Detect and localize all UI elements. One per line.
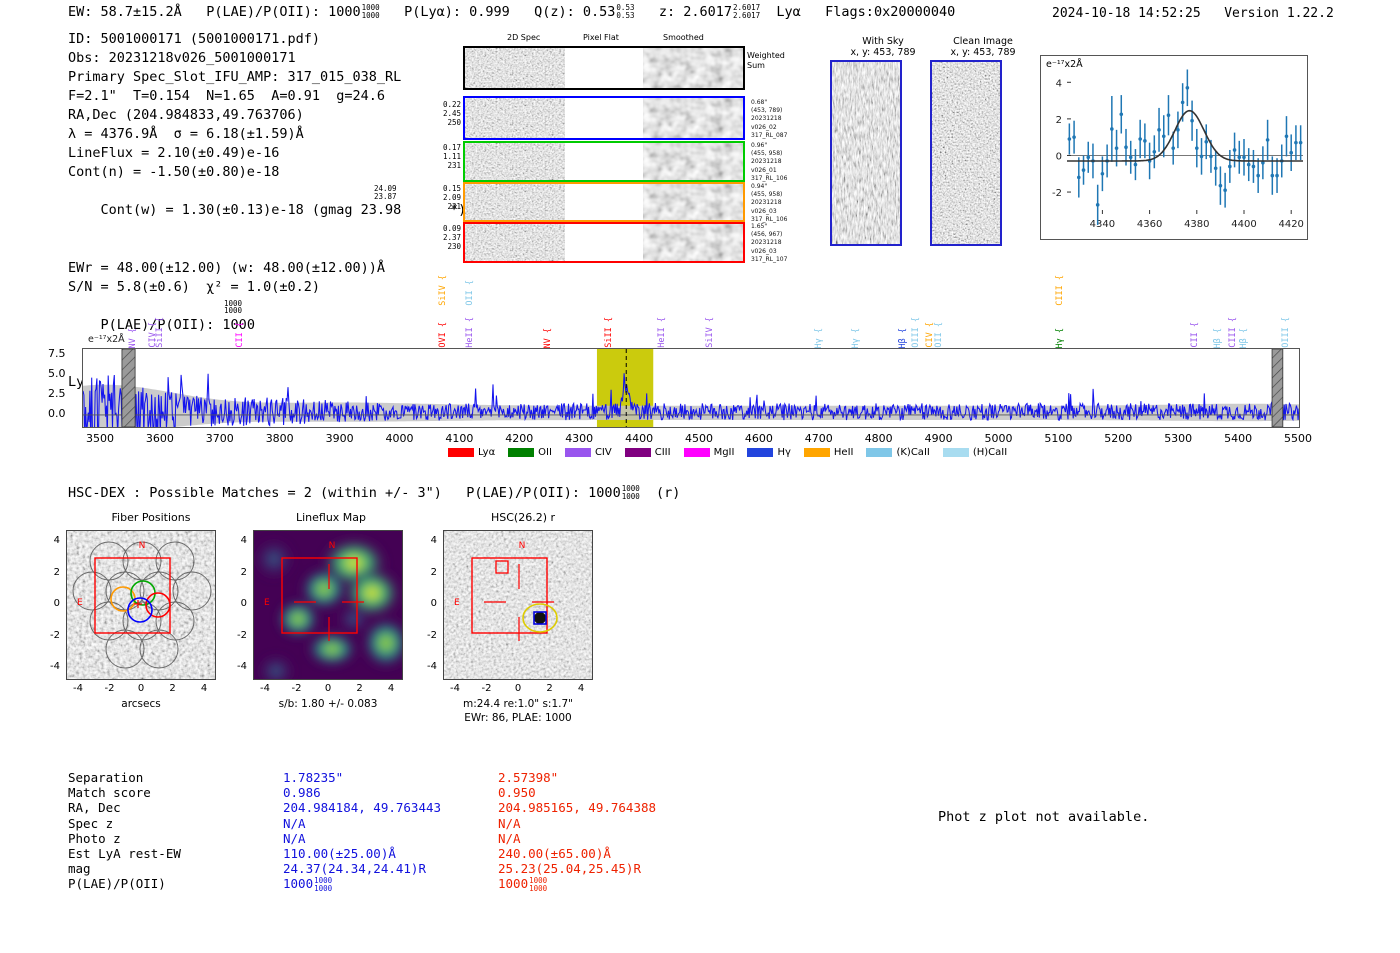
panel-title-smoothed: Smoothed — [663, 33, 704, 42]
match2-value: 204.985165, 49.764388 — [498, 800, 758, 815]
panel-row-4-rightnums: 1.65"(456, 967)20231218v026_03317_RL_107 — [751, 223, 811, 264]
legend-item: Hγ — [747, 447, 790, 458]
legend-label: CIV — [595, 447, 612, 458]
match1-value: N/A — [283, 816, 498, 831]
svg-text:N: N — [519, 541, 526, 551]
line-marker-SiIV: SiIV { — [705, 317, 715, 348]
seg-smoothed — [643, 224, 743, 261]
panel-row-2-leftnums: 0.171.11231 — [427, 143, 461, 170]
spectrum-xtick: 4300 — [565, 432, 593, 445]
panel-1-ytick: 4 — [231, 535, 247, 546]
info-cont-w-text: Cont(w) = 1.30(±0.13)e-18 (gmag 23.98 *) — [101, 202, 467, 218]
line-marker-CIII: CIII { — [1228, 317, 1238, 348]
lineflux-map-image: N E — [253, 530, 403, 680]
line-marker-CIII: CIII { — [1055, 275, 1065, 306]
panel-0-xtick: 0 — [138, 683, 144, 694]
header-plae-fraction: 10001000 — [362, 4, 380, 19]
panel-2-ytick: 2 — [421, 567, 437, 578]
panel-title-lineflux-map: Lineflux Map — [246, 511, 416, 524]
svg-text:E: E — [77, 598, 83, 608]
weighted-sum-label: WeightedSum — [747, 51, 785, 71]
match-row-label: P(LAE)/P(OII) — [68, 876, 283, 892]
spectrum-xtick: 4800 — [865, 432, 893, 445]
legend-swatch — [804, 448, 830, 457]
panel-row-3: 0.152.09231 0.94"(455, 958)20231218v026_… — [463, 182, 745, 222]
spectrum-xtick: 5200 — [1104, 432, 1132, 445]
spectrum-xtick: 4600 — [745, 432, 773, 445]
panel-title-pixelflat: Pixel Flat — [583, 33, 619, 42]
panel-title-fiber-positions: Fiber Positions — [66, 511, 236, 524]
spectrum-xtick: 4000 — [386, 432, 414, 445]
cutout-with-sky-image — [830, 60, 902, 246]
panel-0-ytick: 0 — [44, 598, 60, 609]
legend-label: MgII — [714, 447, 735, 458]
svg-text:E: E — [264, 598, 270, 608]
info-gmag-fraction: 24.0923.87 — [374, 185, 397, 200]
panel-title-2dspec: 2D Spec — [507, 33, 540, 42]
panel-row-2-rightnums: 0.96"(455, 958)20231218v026_01317_RL_106 — [751, 142, 811, 183]
hsc-dex-matches: HSC-DEX : Possible Matches = 2 (within +… — [68, 485, 442, 501]
match-row-label: Match score — [68, 785, 283, 800]
spectrum-xtick: 3600 — [146, 432, 174, 445]
info-line-id: ID: 5001000171 (5001000171.pdf) — [68, 30, 466, 49]
line-marker-SiIV: SiIV { — [438, 275, 448, 306]
photz-note: Phot z plot not available. — [938, 809, 1149, 825]
match2-value: 0.950 — [498, 785, 758, 800]
info-line-cont-w: Cont(w) = 1.30(±0.13)e-18 (gmag 23.98 *)… — [68, 182, 466, 258]
info-line-lambda: λ = 4376.9Å σ = 6.18(±1.59)Å — [68, 125, 466, 144]
panel-1-ytick: 2 — [231, 567, 247, 578]
hsc-dex-filter: (r) — [656, 485, 680, 501]
panel-2-xtick: -4 — [450, 683, 460, 694]
header-qz-fraction: 0.530.53 — [616, 4, 634, 19]
spectrum-xtick: 3900 — [326, 432, 354, 445]
match-row-label: RA, Dec — [68, 800, 283, 815]
spectrum-xtick: 5400 — [1224, 432, 1252, 445]
cutout-title-with-sky: With Skyx, y: 453, 789 — [828, 36, 938, 58]
header-plae-label: P(LAE)/P(OII): 1000 — [206, 4, 360, 20]
svg-text:E: E — [454, 598, 460, 608]
info-line-ewr: EWr = 48.00(±12.00) (w: 48.00(±12.00))Å — [68, 259, 466, 278]
info-line-params: F=2.1" T=0.154 N=1.65 A=0.91 g=24.6 — [68, 87, 466, 106]
match2-value: 2.57398" — [498, 770, 758, 785]
match2-value: 100010001000 — [498, 876, 758, 892]
line-profile-canvas: -202443404360438044004420 — [1041, 56, 1309, 240]
timestamp: 2024-10-18 14:52:25 — [1052, 6, 1201, 21]
info-line-cont-n: Cont(n) = -1.50(±0.80)e-18 — [68, 163, 466, 182]
seg-pixelflat — [565, 48, 643, 88]
panel-1-ytick: -4 — [231, 661, 247, 672]
fiber-positions-image: N E — [66, 530, 216, 680]
line-marker-Hγ: Hγ { — [814, 328, 824, 348]
match-row-label: Est LyA rest-EW — [68, 846, 283, 861]
twod-spec-panel-group: 2D Spec Pixel Flat Smoothed WeightedSum … — [455, 33, 755, 255]
match2-value: N/A — [498, 831, 758, 846]
seg-2dspec — [465, 224, 565, 261]
panel-0-xtick: 4 — [201, 683, 207, 694]
header-linename: Lyα — [776, 4, 800, 20]
match2-value: 25.23(25.04,25.45)R — [498, 861, 758, 876]
line-marker-NV: NV { — [543, 328, 553, 348]
match1-value: 100010001000 — [283, 876, 498, 892]
line-marker-SiII: SiII { — [155, 317, 165, 348]
spectrum-ytick: 5.0 — [48, 367, 66, 380]
panel-row-2: 0.171.11231 0.96"(455, 958)20231218v026_… — [463, 141, 745, 182]
panel-row-1-rightnums: 0.68"(453, 789)20231218v026_02317_RL_087 — [751, 99, 811, 140]
legend-item: CIV — [565, 447, 612, 458]
spectrum-xtick: 4500 — [685, 432, 713, 445]
line-marker-Hγ: Hγ { — [1055, 328, 1065, 348]
legend-item: MgII — [684, 447, 735, 458]
hsc-r-caption-1: m:24.4 re:1.0" s:1.7" — [433, 698, 603, 710]
line-marker-OIII: OIII { — [911, 317, 921, 348]
legend-label: Hγ — [777, 447, 790, 458]
line-marker-CII: CII { — [235, 322, 245, 348]
spectrum-canvas — [83, 349, 1299, 427]
spectrum-xtick: 4400 — [625, 432, 653, 445]
legend-item: CIII — [625, 447, 671, 458]
line-marker-HeII: HeII { — [465, 317, 475, 348]
line-profile-units: e⁻¹⁷x2Å — [1046, 59, 1083, 70]
seg-pixelflat — [565, 224, 643, 261]
cutout-title-clean-image: Clean Imagex, y: 453, 789 — [928, 36, 1038, 58]
panel-row-3-leftnums: 0.152.09231 — [427, 184, 461, 211]
panel-0-ytick: -2 — [44, 630, 60, 641]
spectrum-xtick: 5300 — [1164, 432, 1192, 445]
panel-1-ytick: 0 — [231, 598, 247, 609]
seg-smoothed — [643, 48, 743, 88]
table-row: mag 24.37(24.34,24.41)R 25.23(25.04,25.4… — [68, 861, 758, 876]
panel-row-3-rightnums: 0.94"(455, 958)20231218v026_03317_RL_106 — [751, 183, 811, 224]
table-row: Est LyA rest-EW 110.00(±25.00)Å 240.00(±… — [68, 846, 758, 861]
svg-text:4: 4 — [1056, 78, 1062, 89]
match1-value: 110.00(±25.00)Å — [283, 846, 498, 861]
matches-table: Separation 1.78235" 2.57398" Match score… — [68, 770, 758, 893]
legend-label: HeII — [834, 447, 854, 458]
version-label: Version 1.22.2 — [1224, 6, 1334, 21]
line-marker-OII: OII { — [934, 322, 944, 348]
line-marker-HeII: HeII { — [657, 317, 667, 348]
match2-value: N/A — [498, 816, 758, 831]
lineflux-map-caption: s/b: 1.80 +/- 0.083 — [238, 698, 418, 710]
line-marker-SiII: SiII { — [604, 317, 614, 348]
panel-1-xtick: -2 — [292, 683, 302, 694]
spectrum-ytick: 7.5 — [48, 347, 66, 360]
spectrum-xtick: 3700 — [206, 432, 234, 445]
header-ew: EW: 58.7±15.2Å — [68, 4, 182, 20]
svg-text:2: 2 — [1056, 115, 1062, 126]
line-marker-OIII: OIII { — [1281, 317, 1291, 348]
table-row: RA, Dec 204.984184, 49.763443 204.985165… — [68, 800, 758, 815]
seg-smoothed — [643, 98, 743, 138]
spectrum-xtick: 3800 — [266, 432, 294, 445]
full-spectrum-plot: e⁻¹⁷x2Å 0.02.55.07.535003600370038003900… — [82, 348, 1300, 428]
info-line-slot: Primary Spec_Slot_IFU_AMP: 317_015_038_R… — [68, 68, 466, 87]
spectrum-xtick: 4200 — [505, 432, 533, 445]
info-line-lineflux: LineFlux = 2.10(±0.49)e-16 — [68, 144, 466, 163]
legend-label: CIII — [655, 447, 671, 458]
seg-smoothed — [643, 143, 743, 180]
legend-item: Lyα — [448, 447, 495, 458]
header-timestamp-version: 2024-10-18 14:52:25 Version 1.22.2 — [1052, 6, 1334, 21]
svg-text:0: 0 — [1056, 151, 1062, 162]
legend-swatch — [625, 448, 651, 457]
legend-item: (K)CaII — [866, 447, 929, 458]
legend-label: OII — [538, 447, 552, 458]
table-row: P(LAE)/P(OII) 100010001000 100010001000 — [68, 876, 758, 892]
seg-2dspec — [465, 143, 565, 180]
line-marker-CII: CII { — [1190, 322, 1200, 348]
svg-text:N: N — [139, 541, 146, 551]
panel-row-1-leftnums: 0.222.45250 — [427, 100, 461, 127]
spectrum-ytick: 2.5 — [48, 387, 66, 400]
legend-item: HeII — [804, 447, 854, 458]
match1-value: N/A — [283, 831, 498, 846]
match-row-label: mag — [68, 861, 283, 876]
table-row: Separation 1.78235" 2.57398" — [68, 770, 758, 785]
legend-swatch — [508, 448, 534, 457]
legend-swatch — [747, 448, 773, 457]
line-marker-OVI: OVI { — [438, 322, 448, 348]
spectrum-axes — [82, 348, 1300, 428]
match2-value: 240.00(±65.00)Å — [498, 846, 758, 861]
line-marker-OII: OII { — [465, 280, 475, 306]
header-z-fraction: 2.60172.6017 — [733, 4, 760, 19]
spectrum-xtick: 4700 — [805, 432, 833, 445]
hsc-r-caption-2: EWr: 86, PLAE: 1000 — [433, 712, 603, 724]
fiber-positions-caption: arcsecs — [66, 698, 216, 710]
svg-text:4380: 4380 — [1184, 219, 1209, 230]
panel-1-xtick: -4 — [260, 683, 270, 694]
line-marker-Hβ: Hβ { — [1213, 328, 1223, 348]
seg-pixelflat — [565, 98, 643, 138]
spectrum-xtick: 5100 — [1044, 432, 1072, 445]
match-row-label: Separation — [68, 770, 283, 785]
seg-smoothed — [643, 184, 743, 220]
seg-2dspec — [465, 98, 565, 138]
line-marker-NV: NV { — [128, 328, 138, 348]
panel-row-4: 0.092.37230 1.65"(456, 967)20231218v026_… — [463, 222, 745, 263]
panel-2-ytick: 0 — [421, 598, 437, 609]
panel-2-xtick: 0 — [515, 683, 521, 694]
panel-2-xtick: 4 — [578, 683, 584, 694]
table-row: Photo z N/A N/A — [68, 831, 758, 846]
svg-text:4340: 4340 — [1090, 219, 1115, 230]
table-row: Spec z N/A N/A — [68, 816, 758, 831]
svg-text:4360: 4360 — [1137, 219, 1162, 230]
match1-value: 1.78235" — [283, 770, 498, 785]
line-marker-Hβ: Hβ { — [898, 328, 908, 348]
header-z: z: 2.6017 — [659, 4, 732, 20]
spectrum-legend: LyαOIICIVCIIIMgIIHγHeII(K)CaII(H)CaII — [448, 447, 1007, 458]
svg-text:4400: 4400 — [1231, 219, 1256, 230]
panel-2-ytick: -4 — [421, 661, 437, 672]
hsc-r-image: N E — [443, 530, 593, 680]
panel-2-xtick: -2 — [482, 683, 492, 694]
svg-text:-2: -2 — [1052, 188, 1062, 199]
info-line-obs: Obs: 20231218v026_5001000171 — [68, 49, 466, 68]
panel-row-1: 0.222.45250 0.68"(453, 789)20231218v026_… — [463, 96, 745, 140]
spectrum-xtick: 4900 — [925, 432, 953, 445]
panel-0-ytick: -4 — [44, 661, 60, 672]
line-profile-plot: e⁻¹⁷x2Å -202443404360438044004420 — [1040, 55, 1308, 240]
header-qz: Q(z): 0.53 — [534, 4, 615, 20]
seg-pixelflat — [565, 184, 643, 220]
panel-0-xtick: -2 — [105, 683, 115, 694]
match1-value: 0.986 — [283, 785, 498, 800]
hsc-dex-plae: P(LAE)/P(OII): 1000 — [466, 485, 620, 501]
match-row-label: Spec z — [68, 816, 283, 831]
legend-swatch — [866, 448, 892, 457]
legend-item: OII — [508, 447, 552, 458]
line-marker-Hβ: Hβ { — [1239, 328, 1249, 348]
panel-0-ytick: 2 — [44, 567, 60, 578]
hsc-dex-title: HSC-DEX : Possible Matches = 2 (within +… — [68, 485, 680, 501]
line-marker-Hγ: Hγ { — [851, 328, 861, 348]
panel-1-xtick: 4 — [388, 683, 394, 694]
legend-swatch — [943, 448, 969, 457]
panel-row-4-leftnums: 0.092.37230 — [427, 224, 461, 251]
spectrum-xtick: 5500 — [1284, 432, 1312, 445]
legend-label: (H)CaII — [973, 447, 1007, 458]
panel-1-ytick: -2 — [231, 630, 247, 641]
panel-0-ytick: 4 — [44, 535, 60, 546]
panel-0-xtick: 2 — [169, 683, 175, 694]
table-row: Match score 0.986 0.950 — [68, 785, 758, 800]
info-line-radec: RA,Dec (204.984833,49.763706) — [68, 106, 466, 125]
spectrum-xtick: 3500 — [86, 432, 114, 445]
panel-2-xtick: 2 — [546, 683, 552, 694]
panel-2-ytick: -2 — [421, 630, 437, 641]
panel-0-xtick: -4 — [73, 683, 83, 694]
spectrum-xtick: 4100 — [445, 432, 473, 445]
header-flags: Flags:0x20000040 — [825, 4, 955, 20]
match1-value: 24.37(24.34,24.41)R — [283, 861, 498, 876]
legend-swatch — [565, 448, 591, 457]
panel-2-ytick: 4 — [421, 535, 437, 546]
header-summary-line: EW: 58.7±15.2Å P(LAE)/P(OII): 1000100010… — [68, 4, 955, 20]
seg-2dspec — [465, 184, 565, 220]
hsc-dex-plae-fraction: 10001000 — [622, 485, 640, 500]
legend-swatch — [448, 448, 474, 457]
legend-swatch — [684, 448, 710, 457]
spectrum-xtick: 5000 — [985, 432, 1013, 445]
cutout-clean-image — [930, 60, 1002, 246]
panel-row-weighted-sum — [463, 46, 745, 90]
panel-1-xtick: 2 — [356, 683, 362, 694]
spectrum-ytick: 0.0 — [48, 407, 66, 420]
match1-value: 204.984184, 49.763443 — [283, 800, 498, 815]
header-plya: P(Lyα): 0.999 — [404, 4, 510, 20]
legend-item: (H)CaII — [943, 447, 1007, 458]
legend-label: (K)CaII — [896, 447, 929, 458]
svg-text:4420: 4420 — [1278, 219, 1303, 230]
panel-1-xtick: 0 — [325, 683, 331, 694]
legend-label: Lyα — [478, 447, 495, 458]
panel-title-hsc-r: HSC(26.2) r — [438, 511, 608, 524]
svg-text:N: N — [329, 541, 336, 551]
match-row-label: Photo z — [68, 831, 283, 846]
seg-pixelflat — [565, 143, 643, 180]
seg-2dspec — [465, 48, 565, 88]
spectrum-line-labels: NV {CIV {SiII {CII {SiIV {OII {OVI {HeII… — [82, 276, 1300, 348]
